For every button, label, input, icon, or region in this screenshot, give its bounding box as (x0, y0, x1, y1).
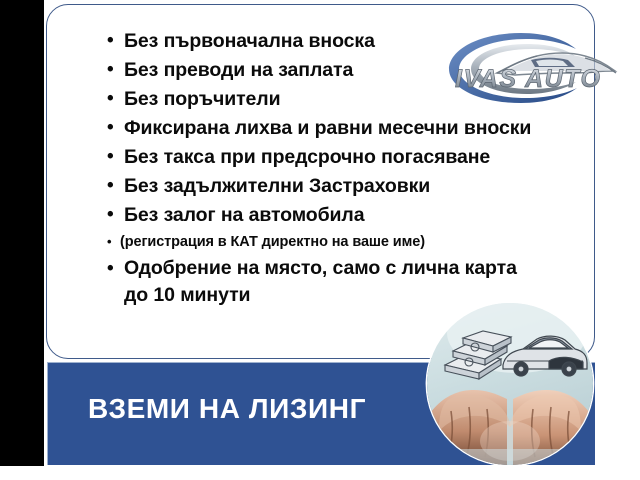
list-item: Без задължителни Застраховки (107, 172, 637, 201)
list-item: Без такса при предсрочно погасяване (107, 143, 637, 172)
hands-money-car-photo (427, 303, 593, 465)
ad-canvas: Без първоначална вноска Без преводи на з… (0, 0, 640, 480)
list-item-note: (регистрация в КАТ директно на ваше име) (107, 230, 637, 255)
list-item: Одобрение на място, само с лична карта д… (107, 255, 637, 309)
list-item: Без залог на автомобила (107, 201, 637, 230)
logo-wordmark: IVAS AUTO (455, 65, 601, 93)
list-item: Фиксирана лихва и равни месечни вноски (107, 114, 637, 143)
letterbox-bar-left (0, 0, 44, 466)
car-swoosh-logo-icon: IVAS AUTO (435, 27, 631, 109)
cta-label: ВЗЕМИ НА ЛИЗИНГ (88, 393, 366, 425)
